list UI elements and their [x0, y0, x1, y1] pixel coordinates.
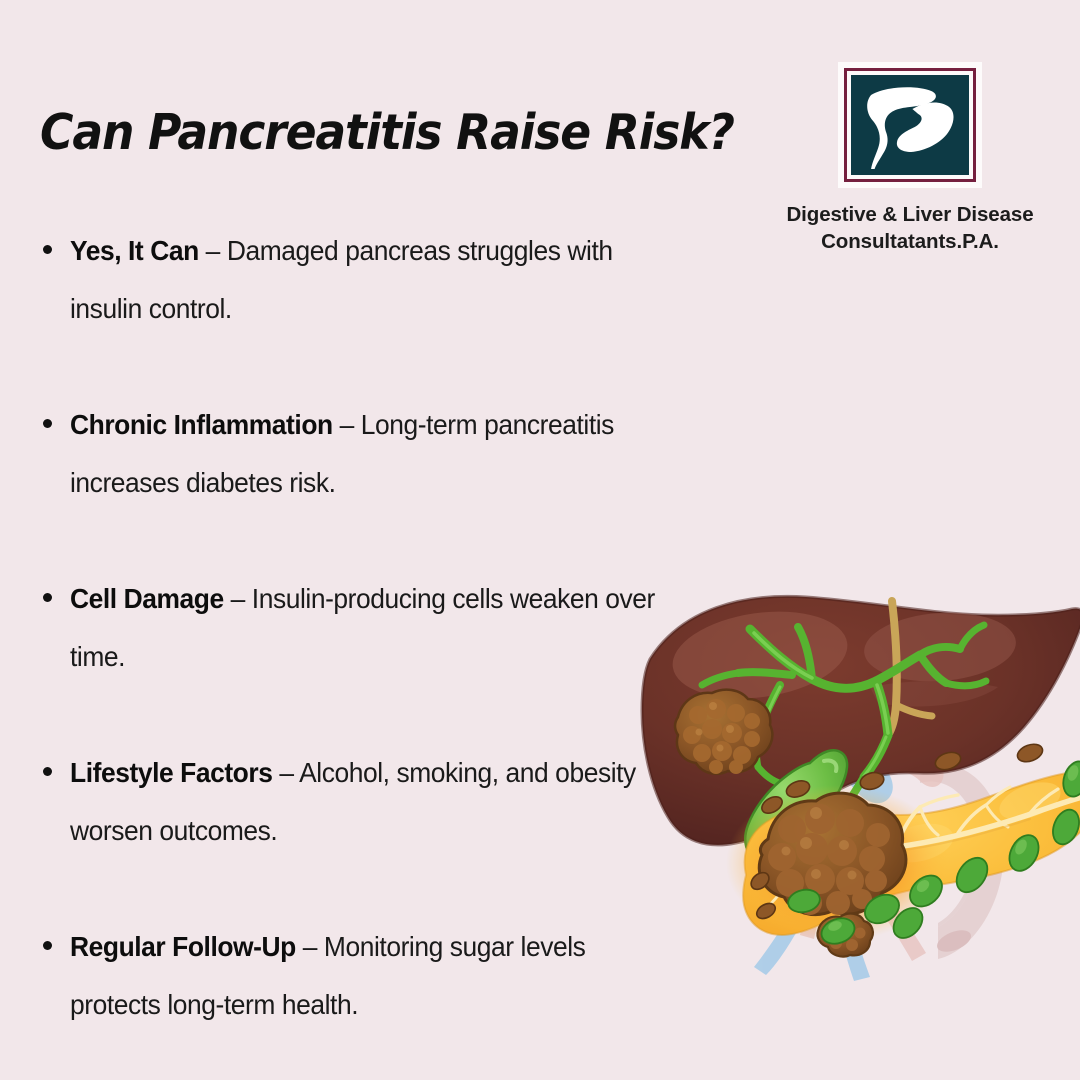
liver-stomach-mark-icon [851, 75, 969, 175]
logo-caption-line-2: Consultatants.P.A. [762, 228, 1058, 255]
bullet-dot-icon [43, 419, 52, 428]
logo-border [844, 68, 976, 182]
bullet-dash: – [296, 931, 324, 962]
bullet-lead: Yes, It Can [70, 235, 199, 266]
list-item: Yes, It Can – Damaged pancreas struggles… [40, 222, 680, 396]
bullet-text: Cell Damage – Insulin-producing cells we… [70, 570, 656, 686]
bullet-text: Chronic Inflammation – Long-term pancrea… [70, 396, 656, 512]
infographic-poster: Digestive & Liver Disease Consultatants.… [0, 0, 1080, 1080]
bullet-text: Regular Follow-Up – Monitoring sugar lev… [70, 918, 656, 1034]
bullet-text: Yes, It Can – Damaged pancreas struggles… [70, 222, 656, 338]
bullet-lead: Lifestyle Factors [70, 757, 272, 788]
bullet-list: Yes, It Can – Damaged pancreas struggles… [40, 222, 680, 1080]
logo-caption: Digestive & Liver Disease Consultatants.… [762, 201, 1058, 256]
bullet-lead: Cell Damage [70, 583, 224, 614]
organ-anatomy-svg [620, 575, 1080, 1045]
bullet-text: Lifestyle Factors – Alcohol, smoking, an… [70, 744, 656, 860]
bullet-dot-icon [43, 245, 52, 254]
bullet-dot-icon [43, 593, 52, 602]
bullet-dash: – [272, 757, 299, 788]
logo-caption-line-1: Digestive & Liver Disease [762, 201, 1058, 228]
bullet-dash: – [224, 583, 252, 614]
bullet-dot-icon [43, 767, 52, 776]
page-title: Can Pancreatitis Raise Risk? [40, 104, 734, 161]
bullet-dot-icon [43, 941, 52, 950]
list-item: Regular Follow-Up – Monitoring sugar lev… [40, 918, 680, 1080]
bullet-lead: Regular Follow-Up [70, 931, 296, 962]
bullet-dash: – [199, 235, 227, 266]
brand-logo-block: Digestive & Liver Disease Consultatants.… [762, 62, 1058, 256]
bullet-lead: Chronic Inflammation [70, 409, 333, 440]
list-item: Chronic Inflammation – Long-term pancrea… [40, 396, 680, 570]
list-item: Lifestyle Factors – Alcohol, smoking, an… [40, 744, 680, 918]
list-item: Cell Damage – Insulin-producing cells we… [40, 570, 680, 744]
logo-frame [838, 62, 982, 188]
bullet-dash: – [333, 409, 361, 440]
liver-pancreas-illustration [620, 575, 1080, 1045]
